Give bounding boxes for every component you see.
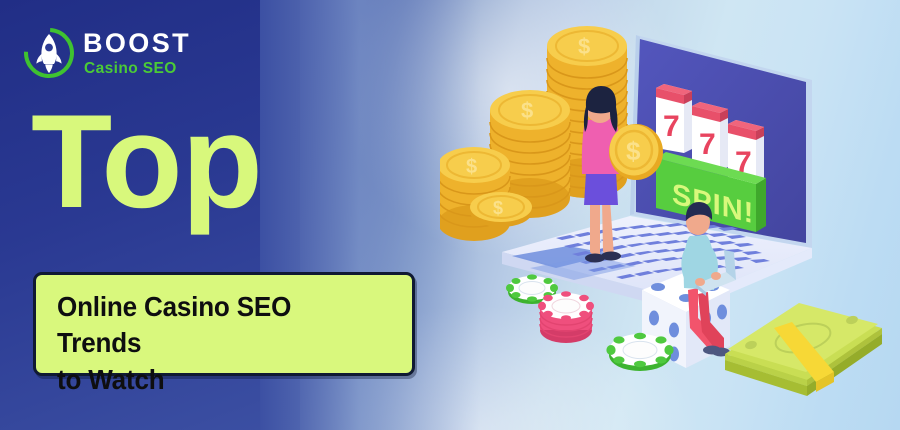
subtitle-badge: Online Casino SEO Trends to Watch	[33, 272, 415, 376]
subtitle-line-2: to Watch	[57, 362, 378, 398]
coin-symbol: $	[626, 136, 641, 166]
coin-single: $	[470, 192, 532, 227]
coin-symbol: $	[521, 98, 533, 123]
reel-digit-1: 7	[663, 110, 680, 143]
coin-symbol: $	[466, 156, 477, 178]
coin-symbol: $	[493, 198, 503, 218]
subtitle-text: Online Casino SEO Trends to Watch	[57, 289, 378, 398]
page-title: Top	[31, 96, 262, 229]
rocket-in-circle-icon	[24, 28, 74, 78]
cash-bundle	[725, 303, 882, 396]
poker-chip-pink-stack	[538, 291, 594, 343]
brand-tagline: Casino SEO	[84, 61, 191, 77]
reel-digit-2: 7	[699, 128, 716, 161]
promo-banner: BOOST Casino SEO Top Online Casino SEO T…	[0, 0, 900, 430]
illustration-svg: 7 7	[440, 0, 900, 430]
isometric-online-casino-illustration: 7 7	[440, 0, 900, 430]
shoe-right	[601, 252, 621, 261]
coin-symbol: $	[578, 34, 590, 59]
skirt	[584, 172, 618, 205]
subtitle-line-1: Online Casino SEO Trends	[57, 289, 378, 362]
brand-name: BOOST	[83, 30, 191, 57]
brand-logo[interactable]: BOOST Casino SEO	[24, 28, 191, 78]
coin-held-by-woman: $	[609, 124, 663, 180]
rocket-icon	[33, 32, 65, 74]
poker-chip-green-right	[606, 333, 673, 371]
